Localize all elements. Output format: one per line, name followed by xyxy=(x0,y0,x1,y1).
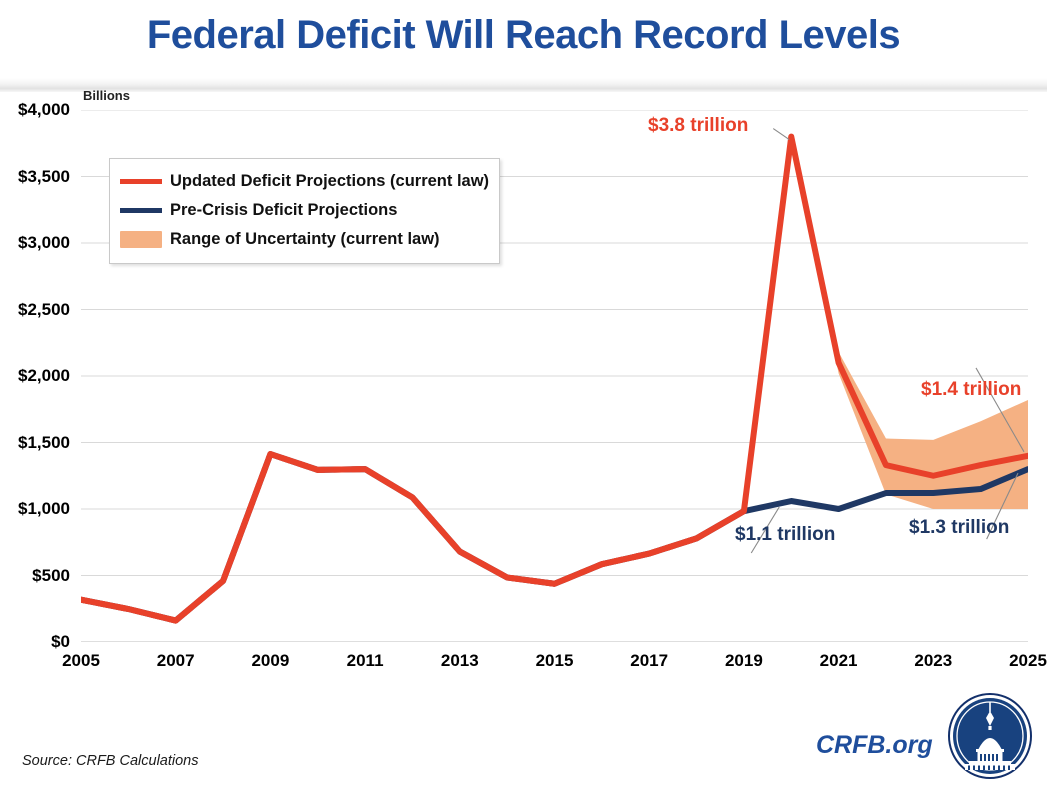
legend-item-1[interactable]: Pre-Crisis Deficit Projections xyxy=(120,196,489,225)
y-axis-tick-2000: $2,000 xyxy=(0,366,70,386)
annotation-navy-2025: $1.3 trillion xyxy=(909,517,1009,539)
legend-item-0[interactable]: Updated Deficit Projections (current law… xyxy=(120,167,489,196)
legend-swatch-line-icon xyxy=(120,208,162,213)
x-axis-tick-2017: 2017 xyxy=(614,651,684,671)
crfb-brand-label: CRFB.org xyxy=(816,731,933,760)
x-axis-tick-2019: 2019 xyxy=(709,651,779,671)
y-axis-unit-label: Billions xyxy=(83,88,130,103)
x-axis-tick-2011: 2011 xyxy=(330,651,400,671)
legend-swatch-line-icon xyxy=(120,179,162,184)
x-axis-tick-2023: 2023 xyxy=(898,651,968,671)
chart-page: Federal Deficit Will Reach Record Levels… xyxy=(0,0,1047,785)
legend-item-label: Pre-Crisis Deficit Projections xyxy=(170,201,397,220)
header-divider xyxy=(0,78,1047,92)
x-axis-tick-2025: 2025 xyxy=(993,651,1047,671)
y-axis-tick-500: $500 xyxy=(0,566,70,586)
source-note: Source: CRFB Calculations xyxy=(22,753,199,769)
x-axis-tick-2005: 2005 xyxy=(46,651,116,671)
annotation-navy-2019: $1.1 trillion xyxy=(735,524,835,546)
annotation-peak-2020: $3.8 trillion xyxy=(648,115,748,137)
x-axis-tick-2021: 2021 xyxy=(804,651,874,671)
x-axis-tick-2009: 2009 xyxy=(235,651,305,671)
legend-item-label: Range of Uncertainty (current law) xyxy=(170,230,440,249)
y-axis-tick-3000: $3,000 xyxy=(0,233,70,253)
y-axis-tick-3500: $3,500 xyxy=(0,167,70,187)
uncertainty-band-area xyxy=(791,137,1028,509)
y-axis-tick-2500: $2,500 xyxy=(0,300,70,320)
legend-item-label: Updated Deficit Projections (current law… xyxy=(170,172,489,191)
chart-legend: Updated Deficit Projections (current law… xyxy=(109,158,500,264)
page-title: Federal Deficit Will Reach Record Levels xyxy=(0,13,1047,58)
y-axis-tick-1000: $1,000 xyxy=(0,499,70,519)
chart-header: Federal Deficit Will Reach Record Levels xyxy=(0,0,1047,78)
y-axis-tick-0: $0 xyxy=(0,632,70,652)
annotation-upper-2025: $1.4 trillion xyxy=(921,379,1021,401)
capitol-dome-icon xyxy=(947,693,1033,779)
historical-overlap-dash xyxy=(81,454,744,621)
legend-swatch-area-icon xyxy=(120,231,162,248)
y-axis-tick-1500: $1,500 xyxy=(0,433,70,453)
y-axis-tick-4000: $4,000 xyxy=(0,100,70,120)
legend-item-2[interactable]: Range of Uncertainty (current law) xyxy=(120,225,489,254)
x-axis-tick-2015: 2015 xyxy=(520,651,590,671)
x-axis-tick-2007: 2007 xyxy=(141,651,211,671)
x-axis-tick-2013: 2013 xyxy=(425,651,495,671)
